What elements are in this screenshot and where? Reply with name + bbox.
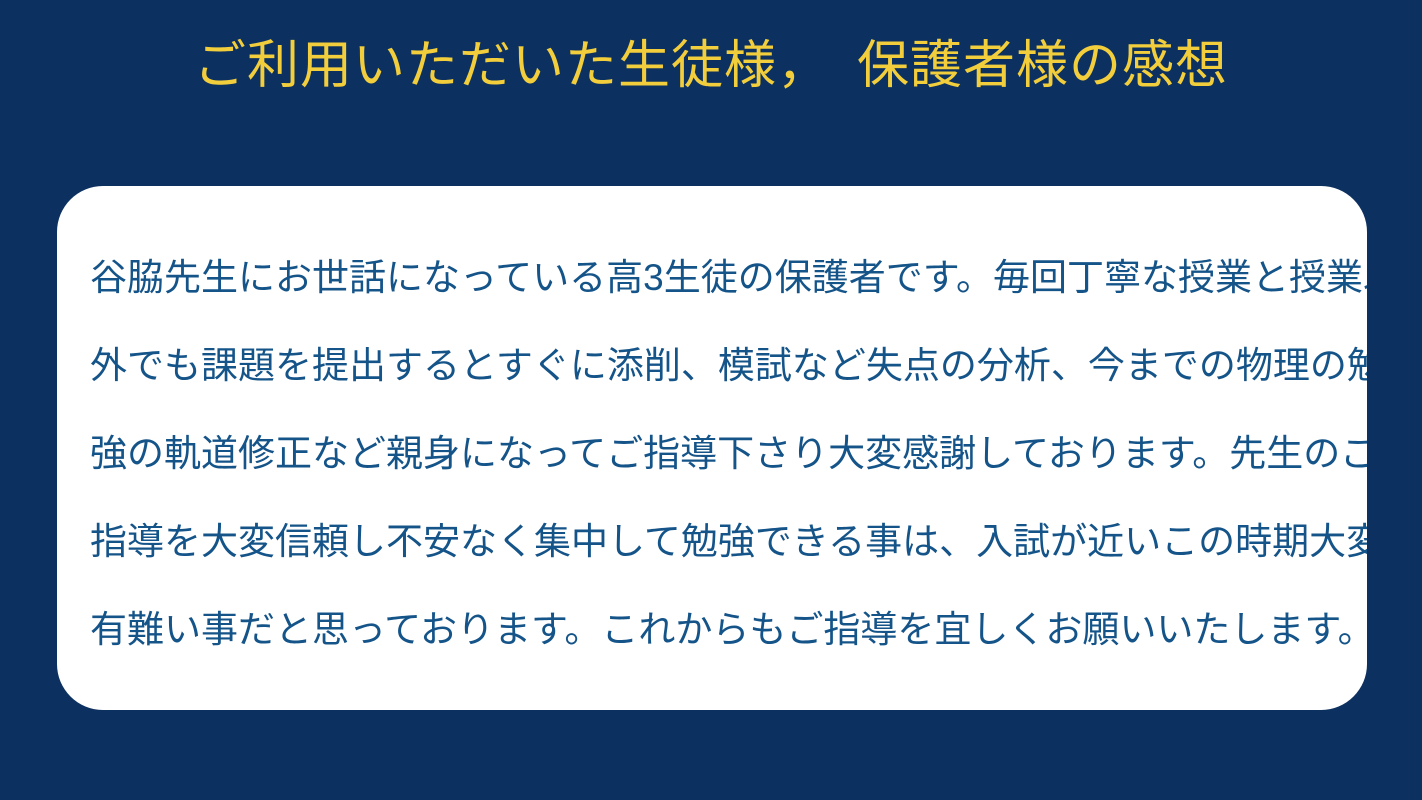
testimonial-line: 指導を大変信頼し不安なく集中して勉強できる事は、入試が近いこの時期大変	[90, 498, 1337, 586]
testimonial-line: 谷脇先生にお世話になっている高3生徒の保護者です。毎回丁寧な授業と授業以	[90, 234, 1337, 322]
page-title: ご利用いただいた生徒様， 保護者様の感想	[0, 34, 1422, 98]
testimonial-line: 強の軌道修正など親身になってご指導下さり大変感謝しております。先生のご	[90, 410, 1337, 498]
testimonial-card: 谷脇先生にお世話になっている高3生徒の保護者です。毎回丁寧な授業と授業以 外でも…	[57, 186, 1367, 710]
testimonial-body: 谷脇先生にお世話になっている高3生徒の保護者です。毎回丁寧な授業と授業以 外でも…	[90, 234, 1337, 674]
slide-root: ご利用いただいた生徒様， 保護者様の感想 谷脇先生にお世話になっている高3生徒の…	[0, 0, 1422, 800]
testimonial-line: 有難い事だと思っております。これからもご指導を宜しくお願いいたします。	[90, 586, 1337, 674]
testimonial-line: 外でも課題を提出するとすぐに添削、模試など失点の分析、今までの物理の勉	[90, 322, 1337, 410]
